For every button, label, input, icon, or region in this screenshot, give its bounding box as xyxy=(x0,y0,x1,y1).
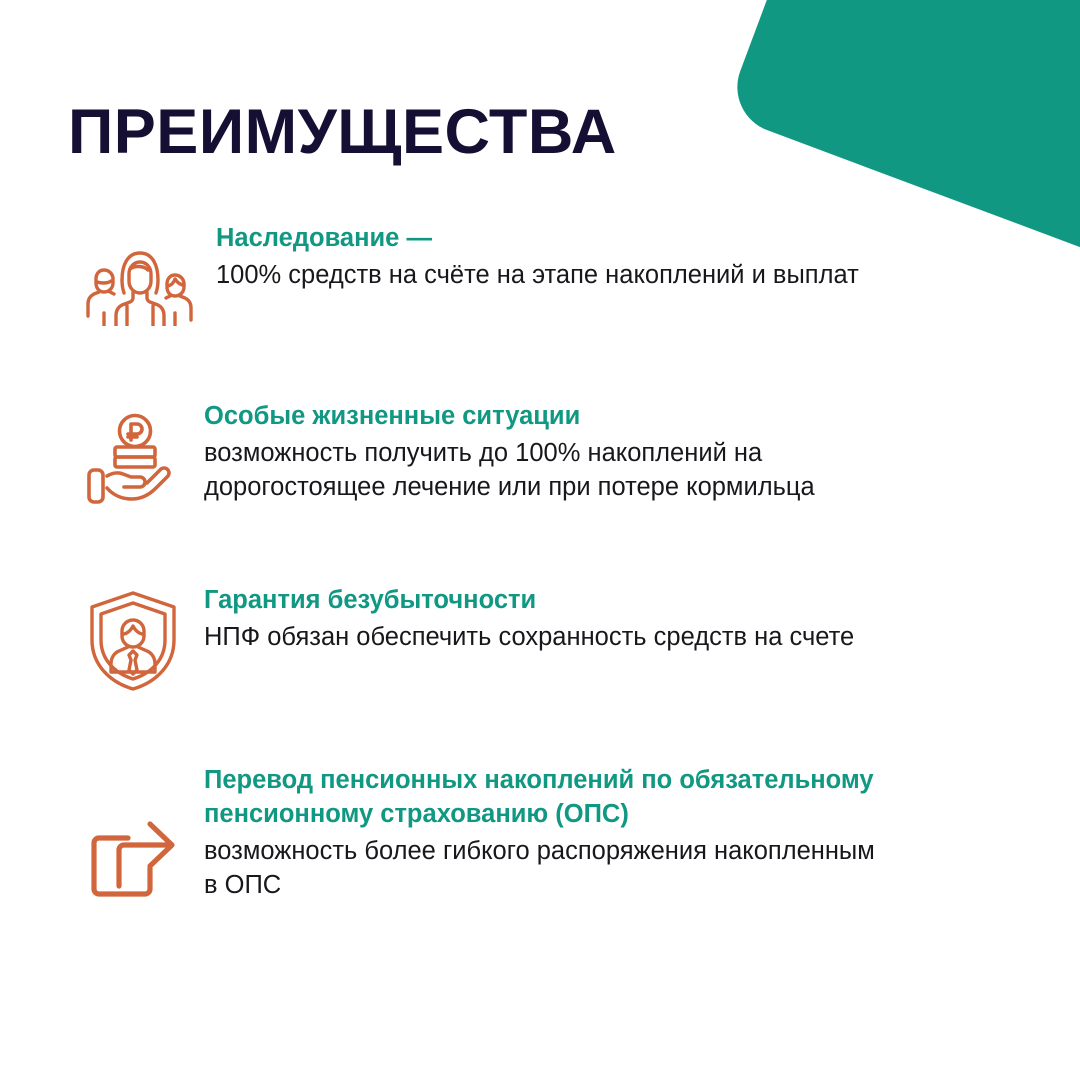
shield-person-icon xyxy=(86,584,204,692)
benefit-text: возможность получить до 100% накоплений … xyxy=(204,436,884,504)
benefit-body: Перевод пенсионных накоплений по обязате… xyxy=(204,764,884,902)
benefit-item: Наследование — 100% средств на счёте на … xyxy=(0,222,1080,326)
benefit-item: Перевод пенсионных накоплений по обязате… xyxy=(0,764,1080,902)
benefit-heading: Гарантия безубыточности xyxy=(204,584,884,618)
benefit-heading: Особые жизненные ситуации xyxy=(204,400,884,434)
export-arrow-icon xyxy=(86,764,204,900)
benefits-list: Наследование — 100% средств на счёте на … xyxy=(0,222,1080,902)
hand-holding-ruble-coins-icon xyxy=(86,400,204,512)
family-group-icon xyxy=(86,222,204,326)
benefit-body: Гарантия безубыточности НПФ обязан обесп… xyxy=(204,584,884,654)
benefit-text: НПФ обязан обеспечить сохранность средст… xyxy=(204,620,884,654)
benefit-heading: Перевод пенсионных накоплений по обязате… xyxy=(204,764,884,832)
benefit-body: Наследование — 100% средств на счёте на … xyxy=(204,222,896,292)
benefit-item: Особые жизненные ситуации возможность по… xyxy=(0,400,1080,512)
page-title: ПРЕИМУЩЕСТВА xyxy=(68,99,617,165)
infographic-page: ПРЕИМУЩЕСТВА xyxy=(0,0,1080,1080)
benefit-heading: Наследование — xyxy=(216,222,896,256)
benefit-body: Особые жизненные ситуации возможность по… xyxy=(204,400,884,504)
benefit-text: возможность более гибкого распоряжения н… xyxy=(204,834,884,902)
benefit-item: Гарантия безубыточности НПФ обязан обесп… xyxy=(0,584,1080,692)
benefit-text: 100% средств на счёте на этапе накоплени… xyxy=(216,258,896,292)
